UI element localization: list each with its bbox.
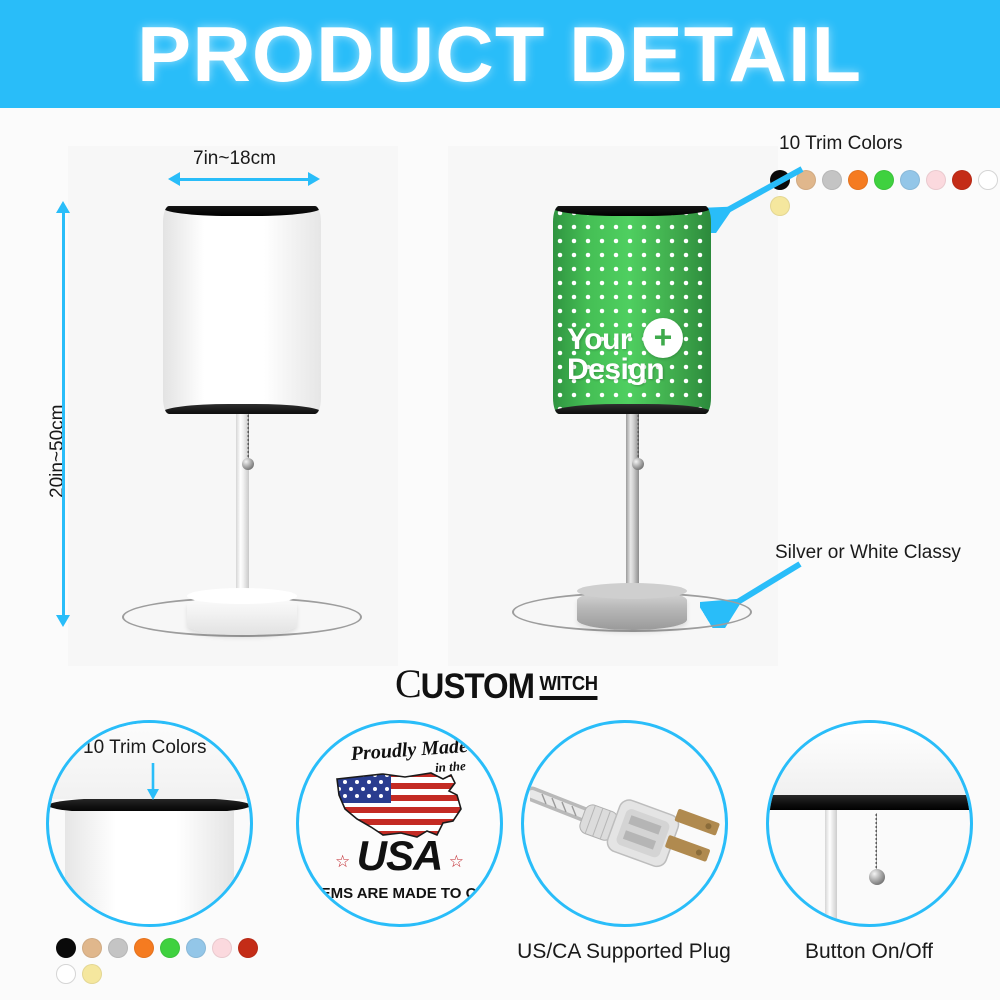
swatch-red[interactable]: [238, 938, 258, 958]
lamp-plain-trim-bottom: [163, 404, 321, 414]
lamp-plain-base: [187, 595, 297, 635]
swatch-gray[interactable]: [822, 170, 842, 190]
feature-button-trim-band: [766, 795, 973, 810]
trim-colors-label: 10 Trim Colors: [779, 133, 903, 155]
feature-trim-colors-shade-body: [65, 811, 234, 924]
width-dimension-arrow: [179, 178, 309, 181]
swatch-orange[interactable]: [848, 170, 868, 190]
swatch-pink[interactable]: [212, 938, 232, 958]
lamp-plain-base-top: [187, 588, 297, 604]
feature-trim-colors-swatch-list: [56, 938, 281, 984]
logo-primary-text: USTOM: [420, 671, 534, 703]
logo-c-mark: C: [395, 666, 420, 703]
swatch-white[interactable]: [56, 964, 76, 984]
product-detail-stage: 7in~18cm 20in~50cm 10 Trim Colors Your D…: [0, 108, 1000, 1000]
feature-trim-colors-inner-label: 10 Trim Colors: [83, 737, 207, 759]
power-plug-icon: [530, 764, 720, 884]
lamp-plain-shade: [163, 206, 321, 414]
lamp-plain-pull-chain[interactable]: [247, 414, 249, 462]
height-dimension-arrow: [62, 212, 65, 616]
swatch-light-blue[interactable]: [900, 170, 920, 190]
plus-icon[interactable]: +: [643, 318, 683, 358]
height-dimension-label: 20in~50cm: [47, 405, 69, 498]
lamp-plain-chain-ball[interactable]: [242, 458, 254, 470]
feature-plug-caption: US/CA Supported Plug: [504, 940, 744, 964]
lamp-custom-trim-bottom: [553, 404, 711, 414]
swatch-tan[interactable]: [82, 938, 102, 958]
feature-made-in-usa-circle: Proudly Made in the: [296, 720, 503, 927]
logo-secondary-text: WITCH: [540, 674, 598, 700]
swatch-orange[interactable]: [134, 938, 154, 958]
swatch-black[interactable]: [56, 938, 76, 958]
lamp-custom-chain-ball[interactable]: [632, 458, 644, 470]
feature-button-pull-chain[interactable]: [875, 813, 877, 873]
swatch-white[interactable]: [978, 170, 998, 190]
header-banner: PRODUCT DETAIL: [0, 0, 1000, 108]
width-dimension-label: 7in~18cm: [193, 148, 276, 170]
swatch-green[interactable]: [160, 938, 180, 958]
lamp-custom-base: [577, 590, 687, 630]
swatch-green[interactable]: [874, 170, 894, 190]
swatch-red[interactable]: [952, 170, 972, 190]
usa-big-text: USA: [357, 832, 443, 880]
feature-button-shade-top: [769, 723, 970, 795]
usa-sub-text: ALL ITEMS ARE MADE TO ORDER!: [296, 885, 503, 902]
usa-star-right: ☆: [449, 852, 464, 872]
down-arrow-icon: [145, 763, 161, 801]
feature-button-chain-ball[interactable]: [869, 869, 885, 885]
lamp-custom-base-top: [577, 583, 687, 599]
feature-button-circle: [766, 720, 973, 927]
usa-star-left: ☆: [335, 852, 350, 872]
brand-logo: C USTOM WITCH: [395, 666, 600, 703]
design-line-2: Design: [567, 355, 664, 386]
feature-button-caption: Button On/Off: [754, 940, 984, 964]
swatch-pink[interactable]: [926, 170, 946, 190]
feature-trim-colors-circle: 10 Trim Colors: [46, 720, 253, 927]
lamp-custom-shade[interactable]: Your Design +: [553, 206, 711, 414]
feature-button-pole: [825, 810, 837, 924]
swatch-yellow[interactable]: [82, 964, 102, 984]
swatch-gray[interactable]: [108, 938, 128, 958]
swatch-light-blue[interactable]: [186, 938, 206, 958]
lamp-custom-pull-chain[interactable]: [637, 414, 639, 462]
feature-plug-circle: [521, 720, 728, 927]
lamp-plain-shade-surface: [163, 206, 321, 414]
page-title: PRODUCT DETAIL: [137, 15, 862, 93]
